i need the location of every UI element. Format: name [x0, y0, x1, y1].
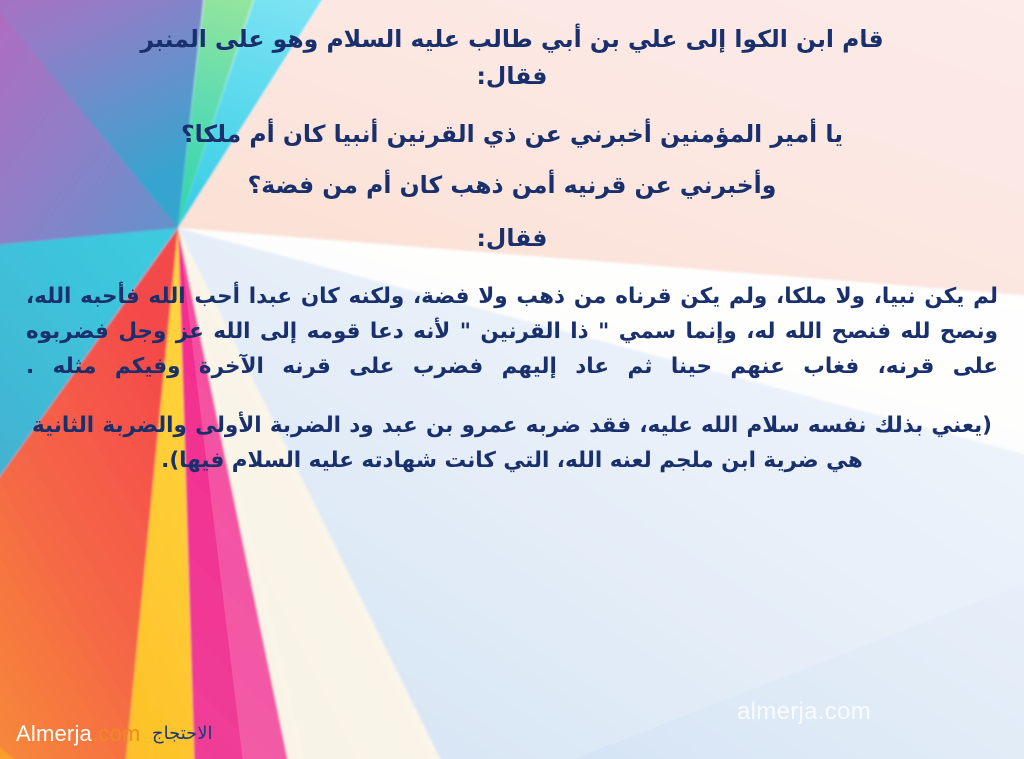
footer-brand-logo: Almerja.com — [16, 721, 140, 747]
paragraph-said-1: فقال: — [24, 59, 1000, 94]
paragraph-intro: قام ابن الكوا إلى علي بن أبي طالب عليه ا… — [24, 22, 1000, 57]
paragraph-said-2: فقال: — [24, 221, 1000, 256]
slide-canvas: قام ابن الكوا إلى علي بن أبي طالب عليه ا… — [0, 0, 1024, 759]
paragraph-answer: لم يكن نبيا، ولا ملكا، ولم يكن قرناه من … — [26, 280, 998, 384]
brand-tld: .com — [92, 721, 140, 746]
paragraph-question-1: يا أمير المؤمنين أخبرني عن ذي القرنين أن… — [24, 117, 1000, 152]
paragraph-question-2: وأخبرني عن قرنيه أمن ذهب كان أم من فضة؟ — [24, 168, 1000, 203]
source-label: الاحتجاج — [152, 723, 213, 744]
slide-text-content: قام ابن الكوا إلى علي بن أبي طالب عليه ا… — [0, 0, 1024, 759]
brand-name: Almerja — [16, 721, 92, 746]
paragraph-note: (يعني بذلك نفسه سلام الله عليه، فقد ضربه… — [32, 409, 992, 479]
